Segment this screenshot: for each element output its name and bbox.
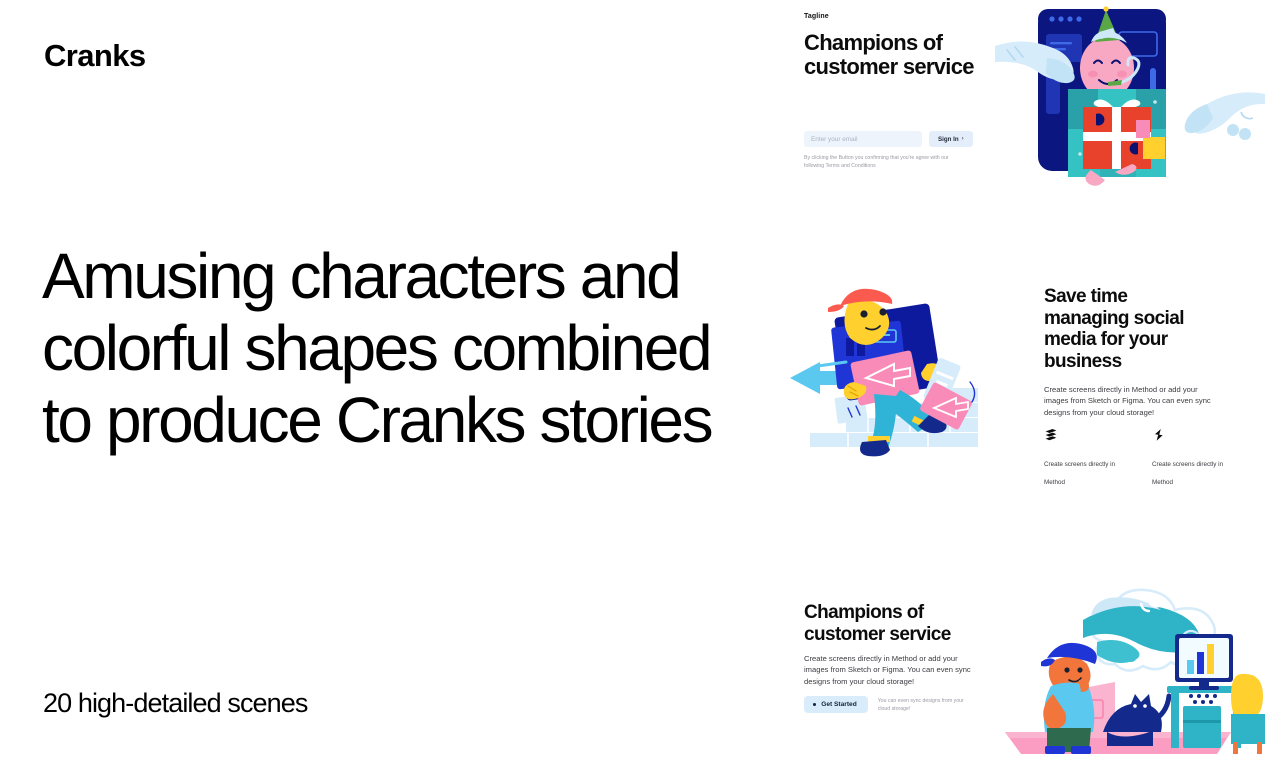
support-card-title: Champions of customer service xyxy=(804,602,984,646)
signin-button[interactable]: Sign In › xyxy=(929,131,973,147)
card-save-time-social: Save time managing social media for your… xyxy=(780,270,1270,485)
hero-card-title: Champions of customer service xyxy=(804,31,979,79)
social-card-feature-list: Create screens directly in Method Create… xyxy=(1044,428,1224,489)
feature-label: Create screens directly in Method xyxy=(1044,461,1115,486)
cta-note-text: You can even sync designs from your clou… xyxy=(878,696,972,713)
feature-item: Create screens directly in Method xyxy=(1152,428,1224,489)
signin-button-label: Sign In xyxy=(938,136,959,143)
chevron-right-icon: › xyxy=(962,136,964,142)
get-started-label: Get Started xyxy=(821,701,857,708)
get-started-button[interactable]: Get Started xyxy=(804,696,868,713)
hero-caption: 20 high-detailed scenes xyxy=(43,688,308,719)
person-cat-monitor-cloud-hand-illustration xyxy=(995,582,1270,760)
lightning-bolt-icon xyxy=(1152,428,1224,447)
brand-logo: Cranks xyxy=(44,38,146,74)
feature-label: Create screens directly in Method xyxy=(1152,461,1223,486)
email-signup-form[interactable]: Sign In › xyxy=(804,131,973,147)
page-title: Amusing characters and colorful shapes c… xyxy=(42,240,722,456)
bullet-dot-icon xyxy=(813,703,816,706)
email-input[interactable] xyxy=(804,131,922,147)
hero-card-tagline-wrap: Tagline xyxy=(804,13,829,20)
support-card-body: Create screens directly in Method or add… xyxy=(804,653,972,687)
social-card-title: Save time managing social media for your… xyxy=(1044,286,1214,372)
card-champions-hero: Tagline Champions of customer service Si… xyxy=(780,0,1270,190)
party-character-puzzle-gift-illustration xyxy=(995,2,1265,187)
left-column: Cranks Amusing characters and colorful s… xyxy=(0,0,760,760)
hero-card-legal-text: By clicking the Button you confirming th… xyxy=(804,155,964,170)
card-champions-support: Champions of customer service Create scr… xyxy=(780,580,1270,760)
support-card-cta-row: Get Started You can even sync designs fr… xyxy=(804,696,972,713)
feature-item: Create screens directly in Method xyxy=(1044,428,1116,489)
delivery-character-boxes-illustration xyxy=(788,278,1003,468)
social-card-body: Create screens directly in Method or add… xyxy=(1044,384,1212,418)
stacked-layers-icon xyxy=(1044,428,1116,447)
tagline-label: Tagline xyxy=(804,13,829,20)
page-root: Cranks Amusing characters and colorful s… xyxy=(0,0,1270,760)
